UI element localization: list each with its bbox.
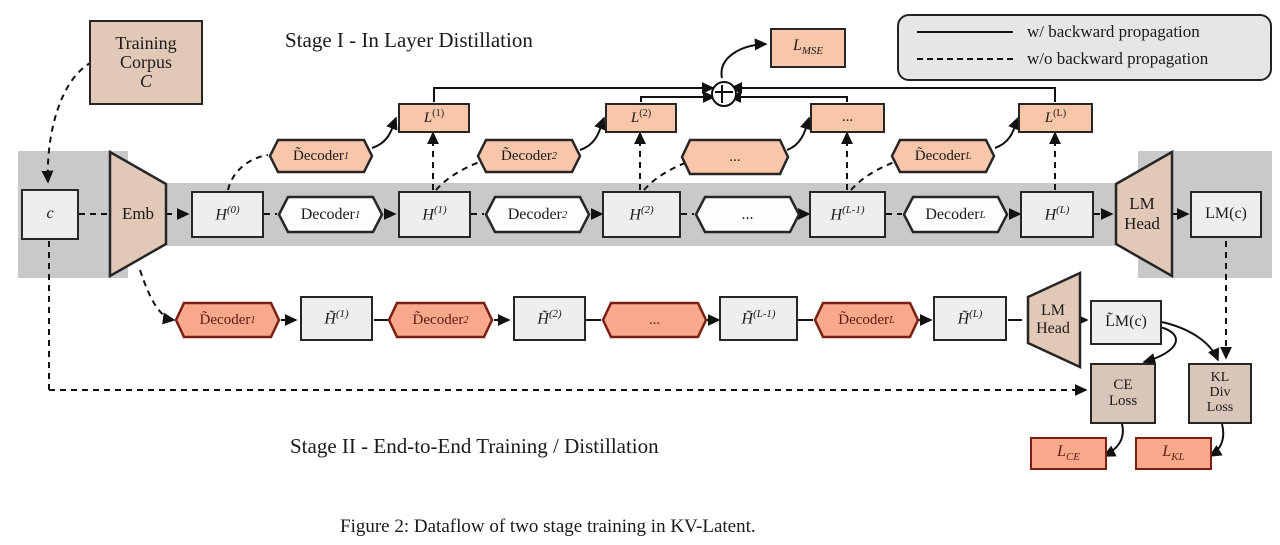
layer-loss-L: L(L)	[1018, 103, 1093, 133]
layer-loss-2-sup: (2)	[639, 108, 651, 119]
student-hidden-lm1-label: H̃	[742, 310, 754, 327]
kl-loss-line1: KL	[1211, 371, 1230, 386]
stage1-tilde-decoder-L-label: D̃ecoderL	[890, 138, 996, 174]
legend-row-dashed: w/o backward propagation	[917, 49, 1208, 69]
student-hidden-2-label: H̃	[537, 310, 549, 327]
figure-canvas: Stage I - In Layer Distillation Stage II…	[0, 0, 1280, 545]
input-token-box: c	[21, 189, 79, 240]
stage1-tilde-decoder-L: D̃ecoderL	[890, 138, 996, 174]
student-hidden-2: H̃(2)	[513, 296, 586, 341]
teacher-decoder-ellipsis-label: ...	[694, 195, 801, 234]
embedding-trapezoid: Emb	[108, 150, 168, 278]
kl-loss-line3: Loss	[1207, 401, 1233, 416]
student-hidden-lm1: H̃(L-1)	[719, 296, 798, 341]
teacher-hidden-L-label: H	[1045, 206, 1057, 223]
legend-dashed-line	[917, 58, 1013, 60]
student-decoder-2: D̃ecoder2	[387, 301, 494, 339]
circled-plus-icon	[711, 81, 737, 107]
layer-loss-L-sup: (L)	[1053, 108, 1066, 119]
layer-loss-ellipsis-label: ...	[842, 110, 853, 126]
student-decoder-L-label: D̃ecoderL	[813, 301, 920, 339]
mse-loss-label: L	[793, 37, 802, 54]
teacher-decoder-L: DecoderL	[902, 195, 1009, 234]
stage1-tilde-decoder-ellipsis: ...	[680, 138, 790, 176]
teacher-hidden-2-label: H	[629, 206, 641, 223]
legend-row-solid: w/ backward propagation	[917, 22, 1200, 42]
input-token-label: c	[46, 206, 53, 223]
teacher-hidden-L: H(L)	[1020, 191, 1094, 238]
student-hidden-lm1-sup: (L-1)	[753, 308, 775, 320]
student-lm-head: LMHead	[1022, 271, 1084, 369]
legend-dashed-label: w/o backward propagation	[1027, 49, 1208, 69]
teacher-decoder-2-label: Decoder2	[484, 195, 591, 234]
student-decoder-1-label: D̃ecoder1	[174, 301, 281, 339]
layer-loss-ellipsis: ...	[810, 103, 885, 133]
teacher-decoder-L-label: DecoderL	[902, 195, 1009, 234]
layer-loss-2: L(2)	[605, 103, 677, 133]
student-hidden-2-sup: (2)	[549, 308, 562, 320]
stage1-tilde-decoder-1-label: D̃ecoder1	[268, 138, 374, 174]
student-lm-head-label: LMHead	[1022, 271, 1084, 369]
kl-loss-box: KL Div Loss	[1188, 363, 1252, 424]
teacher-hidden-lm1: H(L-1)	[809, 191, 886, 238]
student-decoder-ellipsis-label: ...	[601, 301, 708, 339]
teacher-hidden-lm1-sup: (L-1)	[842, 204, 864, 216]
kl-loss-output: LKL	[1135, 437, 1212, 470]
kl-loss-line2: Div	[1210, 386, 1231, 401]
ce-loss-output-label: L	[1057, 443, 1066, 460]
student-output-box: L̃M(c)	[1090, 300, 1162, 345]
teacher-hidden-2: H(2)	[602, 191, 681, 238]
teacher-decoder-1: Decoder1	[277, 195, 384, 234]
legend-box: w/ backward propagation w/o backward pro…	[897, 14, 1272, 81]
layer-loss-1-sup: (1)	[432, 108, 444, 119]
teacher-hidden-0-label: H	[215, 206, 227, 223]
teacher-hidden-L-sup: (L)	[1056, 204, 1069, 216]
stage1-tilde-decoder-2: D̃ecoder2	[476, 138, 582, 174]
student-hidden-L: H̃(L)	[933, 296, 1007, 341]
teacher-lm-head: LMHead	[1110, 150, 1174, 278]
kl-loss-output-sub: KL	[1171, 451, 1184, 463]
stage1-tilde-decoder-2-label: D̃ecoder2	[476, 138, 582, 174]
teacher-decoder-2: Decoder2	[484, 195, 591, 234]
student-decoder-L: D̃ecoderL	[813, 301, 920, 339]
student-decoder-1: D̃ecoder1	[174, 301, 281, 339]
teacher-output-box: LM(c)	[1190, 191, 1262, 238]
student-hidden-1-sup: (1)	[336, 308, 349, 320]
layer-loss-1-label: L	[424, 110, 432, 126]
layer-loss-2-label: L	[631, 110, 639, 126]
corpus-line1: Training	[115, 34, 176, 53]
legend-solid-label: w/ backward propagation	[1027, 22, 1200, 42]
legend-solid-line	[917, 31, 1013, 33]
teacher-lm-head-label: LMHead	[1110, 150, 1174, 278]
stage1-tilde-decoder-ellipsis-label: ...	[680, 138, 790, 176]
training-corpus-box: Training Corpus C	[89, 20, 203, 105]
teacher-hidden-1-sup: (1)	[434, 204, 447, 216]
teacher-decoder-1-label: Decoder1	[277, 195, 384, 234]
teacher-hidden-0-sup: (0)	[227, 204, 240, 216]
student-hidden-L-label: H̃	[958, 310, 970, 327]
stage1-tilde-decoder-1: D̃ecoder1	[268, 138, 374, 174]
ce-loss-output-sub: CE	[1066, 451, 1080, 463]
student-hidden-1: H̃(1)	[300, 296, 373, 341]
ce-loss-line1: CE	[1113, 378, 1132, 394]
student-hidden-L-sup: (L)	[969, 308, 982, 320]
corpus-symbol: C	[140, 72, 152, 91]
embedding-label: Emb	[108, 150, 168, 278]
figure-caption: Figure 2: Dataflow of two stage training…	[340, 516, 756, 538]
stage1-title: Stage I - In Layer Distillation	[285, 28, 533, 53]
kl-loss-output-label: L	[1162, 443, 1171, 460]
student-output-label: L̃M(c)	[1105, 314, 1147, 331]
teacher-hidden-2-sup: (2)	[641, 204, 654, 216]
teacher-decoder-ellipsis: ...	[694, 195, 801, 234]
layer-loss-L-label: L	[1045, 110, 1053, 126]
student-decoder-ellipsis: ...	[601, 301, 708, 339]
teacher-output-label: LM(c)	[1205, 206, 1247, 223]
stage2-title: Stage II - End-to-End Training / Distill…	[290, 434, 659, 459]
layer-loss-1: L(1)	[398, 103, 470, 133]
teacher-hidden-1-label: H	[422, 206, 434, 223]
teacher-hidden-1: H(1)	[398, 191, 471, 238]
ce-loss-line2: Loss	[1109, 394, 1137, 410]
mse-loss-sub: MSE	[802, 45, 823, 57]
corpus-line2: Corpus	[120, 53, 172, 72]
mse-loss-box: LMSE	[770, 28, 846, 68]
teacher-hidden-0: H(0)	[191, 191, 264, 238]
ce-loss-box: CE Loss	[1090, 363, 1156, 424]
student-hidden-1-label: H̃	[324, 310, 336, 327]
ce-loss-output: LCE	[1030, 437, 1107, 470]
student-decoder-2-label: D̃ecoder2	[387, 301, 494, 339]
teacher-hidden-lm1-label: H	[831, 206, 843, 223]
